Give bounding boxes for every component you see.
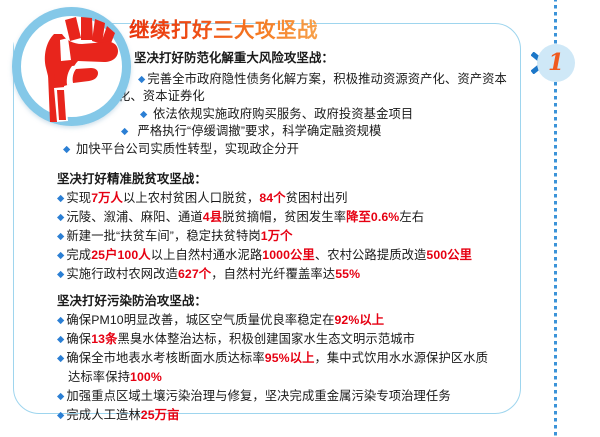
step-number: 1: [548, 51, 564, 74]
bullet-row-poverty-1: ◆实现7万人以上农村贫困人口脱贫，84个贫困村出列: [57, 188, 348, 206]
bullet-row-poverty-3: ◆新建一批“扶贫车间”，稳定扶贫特岗1万个: [57, 226, 292, 244]
bullet-row-risk-3: ◆ 严格执行“停缓调撤”要求，科学确定融资规模: [121, 121, 381, 139]
bullet-diamond-icon: ◆: [57, 353, 64, 364]
bullet-row-poverty-4: ◆完成25户100人以上自然村通水泥路1000公里、农村公路提质改造500公里: [57, 245, 472, 263]
bullet-diamond-icon: ◆: [138, 74, 145, 85]
step-number-badge: 1: [537, 44, 575, 82]
infographic-root: 继续打好三大攻坚战 坚决打好防范化解重大风险攻坚战： ◆完善全市政府隐性债务化解…: [0, 0, 600, 437]
bullet-row-poverty-2: ◆沅陵、溆浦、麻阳、通道4县脱贫摘帽，贫困发生率降至0.6%左右: [57, 207, 424, 225]
bullet-row-risk-2: ◆ 依法依规实施政府购买服务、政府投资基金项目: [140, 104, 413, 122]
bullet-row-text: 加快平台公司实质性转型，实现政企分开: [76, 142, 299, 156]
bullet-diamond-icon: ◆: [57, 410, 64, 421]
bullet-diamond-icon: ◆: [57, 250, 64, 261]
bullet-row-pollution-2: ◆确保13条黑臭水体整治达标，积极创建国家水生态文明示范城市: [57, 329, 415, 347]
bullet-row-risk-1: ◆完善全市政府隐性债务化解方案，积极推动资源资产化、资产资本: [138, 69, 507, 87]
bullet-row-text: 严格执行“停缓调撤”要求，科学确定融资规模: [137, 124, 381, 138]
bullet-row-pollution-1: ◆确保PM10明显改善，城区空气质量优良率稳定在92%以上: [57, 310, 384, 328]
bullet-diamond-icon: ◆: [140, 109, 147, 120]
section-heading-risk: 坚决打好防范化解重大风险攻坚战：: [134, 48, 334, 66]
bullet-row-poverty-5: ◆实施行政村农网改造627个，自然村光纤覆盖率达55%: [57, 264, 360, 282]
bullet-row-risk-1-cont: 化、资本证券化: [118, 86, 205, 104]
bullet-diamond-icon: ◆: [57, 315, 64, 326]
bullet-row-pollution-5: ◆完成人工造林25万亩: [57, 405, 179, 423]
bullet-diamond-icon: ◆: [57, 231, 64, 242]
bullet-diamond-icon: ◆: [57, 193, 64, 204]
section-heading-poverty: 坚决打好精准脱贫攻坚战：: [57, 169, 207, 187]
bullet-row-text: 完善全市政府隐性债务化解方案，积极推动资源资产化、资产资本: [147, 72, 507, 86]
bullet-diamond-icon: ◆: [57, 334, 64, 345]
page-title: 继续打好三大攻坚战: [129, 13, 318, 43]
bullet-row-risk-4: ◆ 加快平台公司实质性转型，实现政企分开: [63, 139, 299, 157]
bullet-row-text: 化、资本证券化: [118, 89, 205, 103]
bullet-diamond-icon: ◆: [57, 391, 64, 402]
bullet-diamond-icon: ◆: [63, 144, 70, 155]
bullet-row-text: 依法依规实施政府购买服务、政府投资基金项目: [153, 107, 413, 121]
red-fist-icon: [24, 14, 128, 124]
bullet-row-pollution-4: ◆加强重点区域土壤污染治理与修复，坚决完成重金属污染专项治理任务: [57, 386, 451, 404]
bullet-diamond-icon: ◆: [57, 212, 64, 223]
bullet-row-pollution-3-cont: 达标率保持100%: [68, 367, 162, 385]
bullet-diamond-icon: ◆: [57, 269, 64, 280]
bullet-diamond-icon: ◆: [121, 126, 128, 137]
bullet-row-pollution-3: ◆确保全市地表水考核断面水质达标率95%以上，集中式饮用水水源保护区水质: [57, 348, 488, 366]
section-heading-pollution: 坚决打好污染防治攻坚战：: [57, 291, 207, 309]
